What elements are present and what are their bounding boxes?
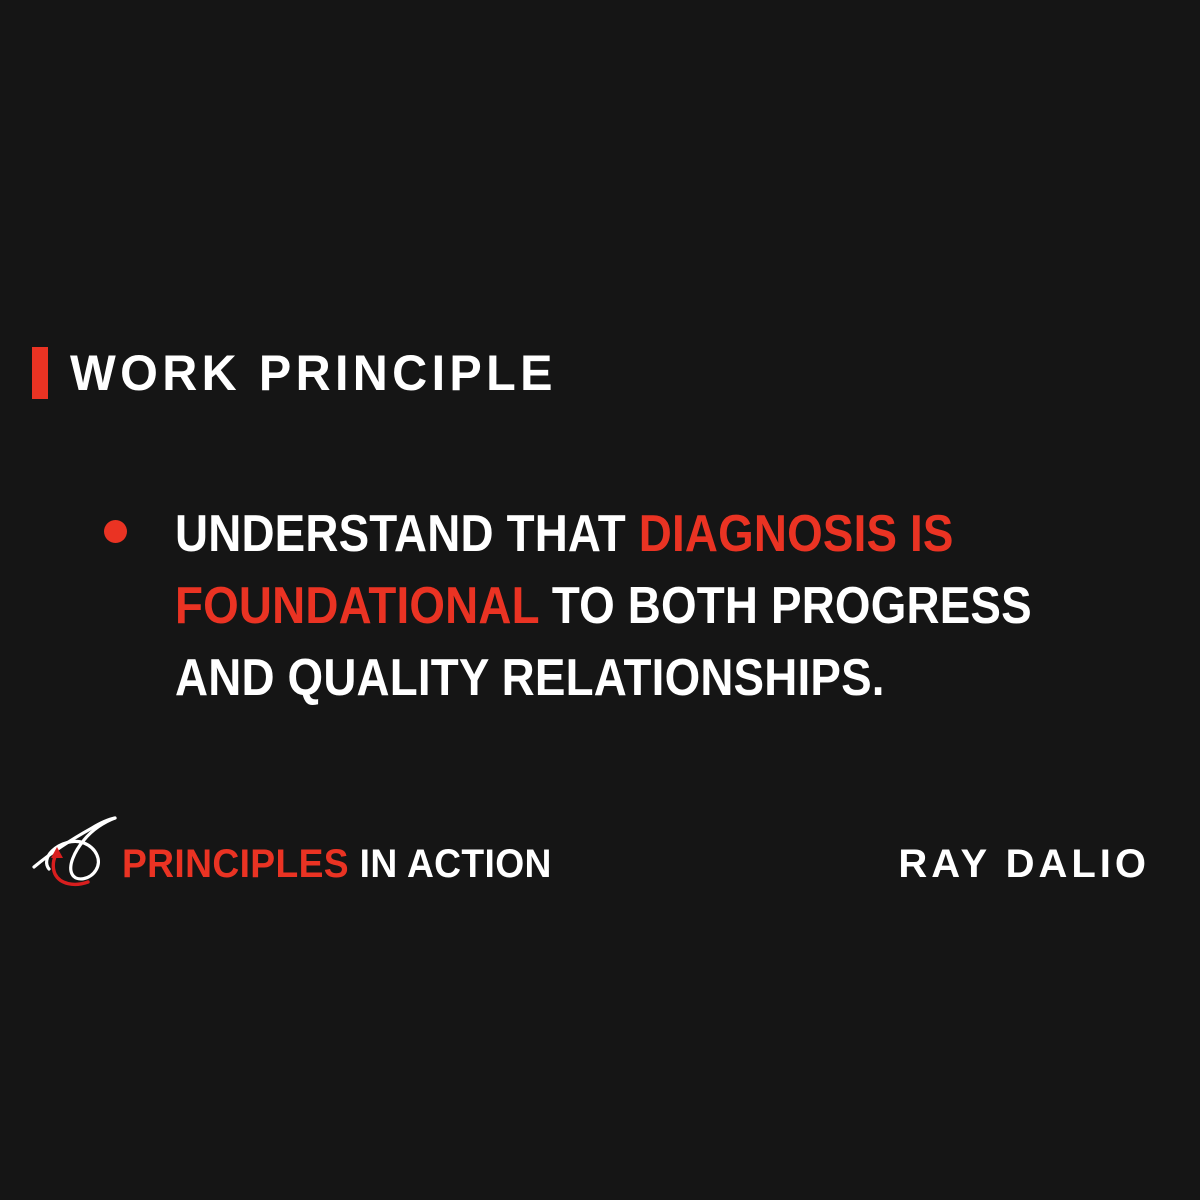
quote-line-1-plain: UNDERSTAND THAT [175,505,639,563]
quote-line-3-plain: AND QUALITY RELATIONSHIPS. [175,649,885,707]
author-name: RAY DALIO [898,812,1150,892]
header: WORK PRINCIPLE [32,340,572,406]
quote-line-2-plain: TO BOTH PROGRESS [539,577,1032,635]
header-accent-bar [32,347,48,399]
quote-line-3: AND QUALITY RELATIONSHIPS. [175,642,1161,714]
brand-primary-label: PRINCIPLES [122,842,349,886]
quote-line-1: UNDERSTAND THAT DIAGNOSIS IS [175,498,1161,570]
brand-text: PRINCIPLES IN ACTION [122,842,552,886]
quote-line-2-highlight: FOUNDATIONAL [175,577,539,635]
brand-lockup: PRINCIPLES IN ACTION [30,812,584,892]
footer: PRINCIPLES IN ACTION RAY DALIO [0,812,1200,892]
quote-text: UNDERSTAND THAT DIAGNOSIS IS FOUNDATIONA… [175,498,1161,714]
bullet-dot-icon [104,520,127,543]
quote-block: UNDERSTAND THAT DIAGNOSIS IS FOUNDATIONA… [104,498,1164,714]
quote-line-2: FOUNDATIONAL TO BOTH PROGRESS [175,570,1161,642]
page-title: WORK PRINCIPLE [70,347,557,399]
principles-spiral-swoosh-icon [30,814,118,890]
brand-secondary-label [349,842,360,886]
quote-card: WORK PRINCIPLE UNDERSTAND THAT DIAGNOSIS… [0,0,1200,1200]
quote-line-1-highlight: DIAGNOSIS IS [639,505,954,563]
brand-secondary-text: IN ACTION [360,842,552,886]
